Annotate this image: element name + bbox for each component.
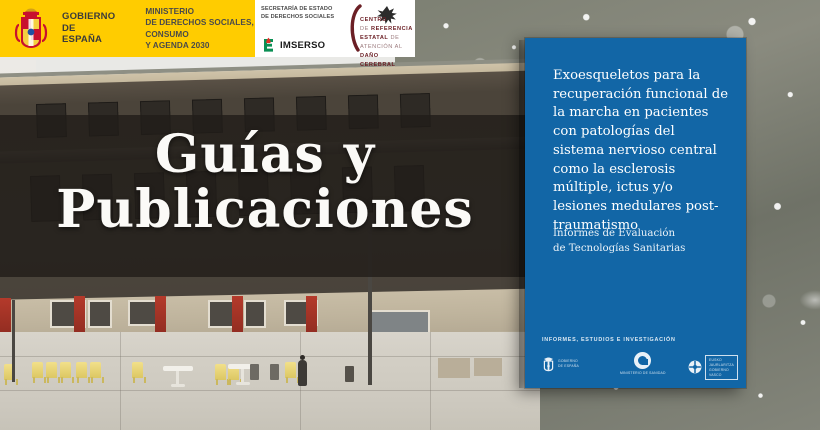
waste-bin	[345, 366, 354, 382]
chair	[46, 362, 57, 378]
publication-subtitle-line-2: de Tecnologías Sanitarias	[553, 242, 729, 257]
imserso-wordmark: IMSERSO	[280, 40, 325, 51]
lamp-post	[12, 300, 15, 382]
gobierno-line-2: DE ESPAÑA	[62, 23, 115, 47]
eusko-logo-text: EUSKO JAURLARITZA GOBIERNO VASCO	[705, 355, 738, 380]
ceadac-text: CENTRO DE REFERENCIA ESTATAL DE ATENCIÓN…	[360, 16, 415, 70]
osteba-ring-logo: MINISTERIO DE SANIDAD	[620, 352, 666, 376]
ministerio-label: MINISTERIO DE DERECHOS SOCIALES, CONSUMO…	[145, 6, 255, 50]
coat-of-arms-spain-icon	[14, 7, 48, 51]
chair	[90, 362, 101, 378]
window	[244, 300, 266, 328]
chair	[215, 364, 226, 380]
ceadac-logo: CENTRO DE REFERENCIA ESTATAL DE ATENCIÓN…	[347, 0, 415, 57]
waste-bin	[250, 364, 259, 380]
secretaria-line-2: DE DERECHOS SOCIALES	[261, 13, 343, 21]
ceadac-line-2-bold: REFERENCIA	[371, 26, 413, 32]
eusko-logo-line-1: EUSKO JAURLARITZA	[709, 358, 734, 368]
page-title-line-1: Guías y	[0, 128, 530, 181]
chair	[285, 362, 296, 378]
agencies-block: SECRETARÍA DE ESTADO DE DERECHOS SOCIALE…	[255, 0, 415, 57]
gobierno-de-espana-block: GOBIERNO DE ESPAÑA MINISTERIO DE DERECHO…	[0, 0, 255, 57]
person	[298, 360, 307, 386]
ceadac-line-4: ATENCIÓN AL	[360, 44, 403, 50]
publication-logo-row: GOBIERNO DE ESPAÑA MINISTERIO DE SANIDAD	[542, 352, 732, 384]
gobierno-de-espana-logo: GOBIERNO DE ESPAÑA	[542, 356, 579, 372]
gobierno-label: GOBIERNO DE ESPAÑA	[62, 11, 115, 47]
waste-bin	[270, 364, 279, 380]
ceadac-line-5: DAÑO CEREBRAL	[360, 53, 395, 68]
imserso-mark-icon	[261, 37, 276, 53]
ceadac-line-2-light: DE	[360, 26, 369, 32]
ministerio-line-3: Y AGENDA 2030	[145, 40, 255, 51]
secretaria-estado-block: SECRETARÍA DE ESTADO DE DERECHOS SOCIALE…	[255, 0, 347, 57]
shield-icon	[688, 360, 702, 375]
coat-of-arms-spain-icon	[542, 356, 555, 372]
paving-seam	[0, 356, 540, 357]
page-title: Guías y Publicaciones	[0, 128, 530, 236]
chair	[60, 362, 71, 378]
ministerio-line-1: MINISTERIO	[145, 6, 255, 17]
page-title-line-2: Publicaciones	[0, 183, 530, 236]
publication-cover[interactable]: Exoesqueletos para la recuperación funci…	[525, 38, 746, 388]
ministerio-line-2: DE DERECHOS SOCIALES, CONSUMO	[145, 17, 255, 39]
publication-subtitle-line-1: Informes de Evaluación	[553, 227, 729, 242]
planter	[438, 358, 470, 378]
paving-seam	[0, 390, 540, 391]
paving-seam	[430, 332, 431, 430]
paving-seam	[120, 332, 121, 430]
eusko-logo-line-2: GOBIERNO VASCO	[709, 368, 734, 378]
osteba-logo-text: MINISTERIO DE SANIDAD	[620, 371, 666, 376]
table	[163, 366, 193, 371]
gobierno-line-1: GOBIERNO	[62, 11, 115, 23]
secretaria-label: SECRETARÍA DE ESTADO DE DERECHOS SOCIALE…	[261, 5, 343, 22]
gobierno-logo-text: GOBIERNO DE ESPAÑA	[558, 359, 579, 369]
planter	[474, 358, 502, 376]
chair	[132, 362, 143, 378]
gobierno-logo-line-2: DE ESPAÑA	[558, 364, 579, 369]
publication-subtitle: Informes de Evaluación de Tecnologías Sa…	[553, 227, 729, 257]
banner-stage: Guías y Publicaciones GOBIERNO	[0, 0, 820, 430]
chair	[32, 362, 43, 378]
chair	[76, 362, 87, 378]
publication-title: Exoesqueletos para la recuperación funci…	[553, 67, 729, 236]
eusko-jaurlaritza-logo: EUSKO JAURLARITZA GOBIERNO VASCO	[688, 355, 738, 380]
ring-icon	[634, 352, 651, 369]
government-header: GOBIERNO DE ESPAÑA MINISTERIO DE DERECHO…	[0, 0, 415, 57]
window	[88, 300, 112, 328]
ceadac-line-3-light: DE	[391, 35, 400, 41]
ceadac-line-1: CENTRO	[360, 17, 387, 23]
imserso-logo: IMSERSO	[261, 37, 343, 53]
ceadac-line-3-bold: ESTATAL	[360, 35, 388, 41]
secretaria-line-1: SECRETARÍA DE ESTADO	[261, 5, 343, 13]
publication-footer-label: INFORMES, ESTUDIOS E INVESTIGACIÓN	[542, 337, 676, 343]
